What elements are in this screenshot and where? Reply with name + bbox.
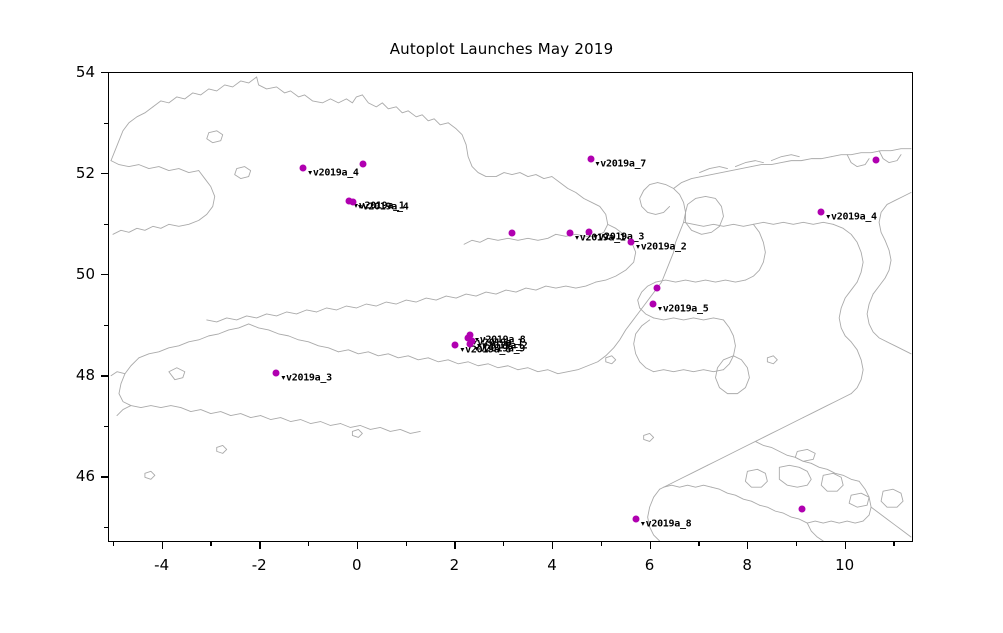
x-axis-tick-label: -4	[139, 556, 185, 574]
plot-area: ▾v2019a_4▾v2019a_1▾v2019a_4▾v2019a_7▾v20…	[108, 72, 913, 542]
x-axis-minor-tick	[210, 542, 211, 546]
data-point-marker	[359, 161, 366, 168]
x-axis-tick-label: -2	[236, 556, 282, 574]
y-axis-minor-tick	[104, 224, 108, 225]
page-title: Autoplot Launches May 2019	[0, 40, 1003, 58]
x-axis-minor-tick	[698, 542, 699, 546]
y-axis-minor-tick	[104, 123, 108, 124]
y-axis-tick-label: 46	[49, 467, 95, 485]
x-axis-tick	[845, 542, 846, 549]
x-axis-tick-label: 4	[529, 556, 575, 574]
data-point-label: ▾v2019a_3	[280, 372, 332, 383]
x-axis-minor-tick	[406, 542, 407, 546]
data-point-marker	[508, 230, 515, 237]
data-point-marker	[466, 340, 473, 347]
data-point-marker	[818, 208, 825, 215]
y-axis-tick-label: 48	[49, 366, 95, 384]
y-axis-tick-label: 54	[49, 63, 95, 81]
chart-page: Autoplot Launches May 2019	[0, 0, 1003, 633]
x-axis-tick	[552, 542, 553, 549]
data-point-marker	[585, 229, 592, 236]
data-point-marker	[649, 300, 656, 307]
y-axis-minor-tick	[104, 426, 108, 427]
data-point-marker	[567, 230, 574, 237]
y-axis-tick	[101, 72, 108, 73]
x-axis-minor-tick	[601, 542, 602, 546]
x-axis-tick-label: 2	[431, 556, 477, 574]
x-axis-minor-tick	[308, 542, 309, 546]
data-point-label: ▾v2019a_4	[357, 201, 409, 212]
basemap	[109, 73, 912, 541]
x-axis-tick-label: 10	[822, 556, 868, 574]
x-axis-minor-tick	[503, 542, 504, 546]
y-axis-tick	[101, 476, 108, 477]
data-point-marker	[872, 157, 879, 164]
data-point-marker	[300, 165, 307, 172]
data-point-marker	[273, 369, 280, 376]
x-axis-tick	[650, 542, 651, 549]
x-axis-tick-label: 8	[724, 556, 770, 574]
y-axis-tick	[101, 375, 108, 376]
y-axis-tick	[101, 274, 108, 275]
x-axis-minor-tick	[796, 542, 797, 546]
x-axis-tick	[259, 542, 260, 549]
data-point-marker	[628, 239, 635, 246]
x-axis-tick	[357, 542, 358, 549]
x-axis-tick	[162, 542, 163, 549]
data-point-label: ▾v2019a_7	[595, 158, 647, 169]
data-point-label: ▾v2019a_8	[640, 518, 692, 529]
data-point-marker	[653, 284, 660, 291]
y-axis-minor-tick	[104, 325, 108, 326]
x-axis-tick	[747, 542, 748, 549]
x-axis-minor-tick	[113, 542, 114, 546]
data-point-label: ▾v2019a_4	[307, 168, 359, 179]
data-point-marker	[587, 155, 594, 162]
y-axis-tick	[101, 173, 108, 174]
y-axis-minor-tick	[104, 527, 108, 528]
data-point-label: ▾v2019a_9	[474, 343, 526, 354]
data-point-marker	[349, 198, 356, 205]
data-point-marker	[798, 505, 805, 512]
x-axis-minor-tick	[893, 542, 894, 546]
x-axis-tick-label: 6	[627, 556, 673, 574]
y-axis-tick-label: 52	[49, 164, 95, 182]
data-point-marker	[452, 341, 459, 348]
data-point-label: ▾v2019a_4	[825, 211, 877, 222]
data-point-marker	[632, 515, 639, 522]
data-point-label: ▾v2019a_5	[657, 303, 709, 314]
x-axis-tick-label: 0	[334, 556, 380, 574]
x-axis-tick	[454, 542, 455, 549]
y-axis-tick-label: 50	[49, 265, 95, 283]
data-point-label: ▾v2019a_2	[635, 242, 687, 253]
